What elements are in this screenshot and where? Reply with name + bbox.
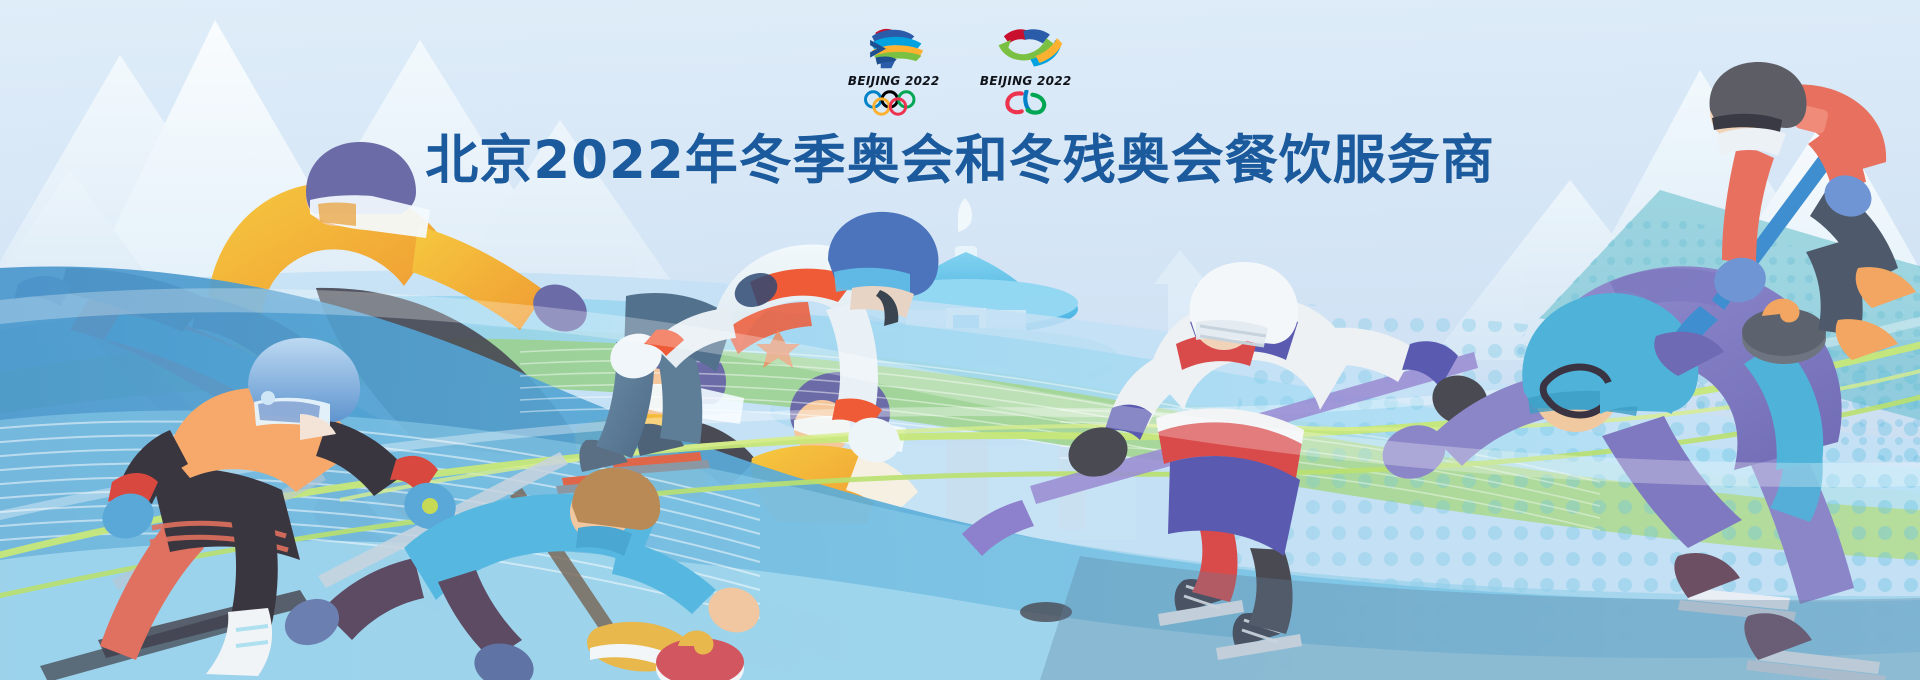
foreground-sheen bbox=[0, 0, 1920, 680]
olympic-banner: BEIJING 2022 bbox=[0, 0, 1920, 680]
